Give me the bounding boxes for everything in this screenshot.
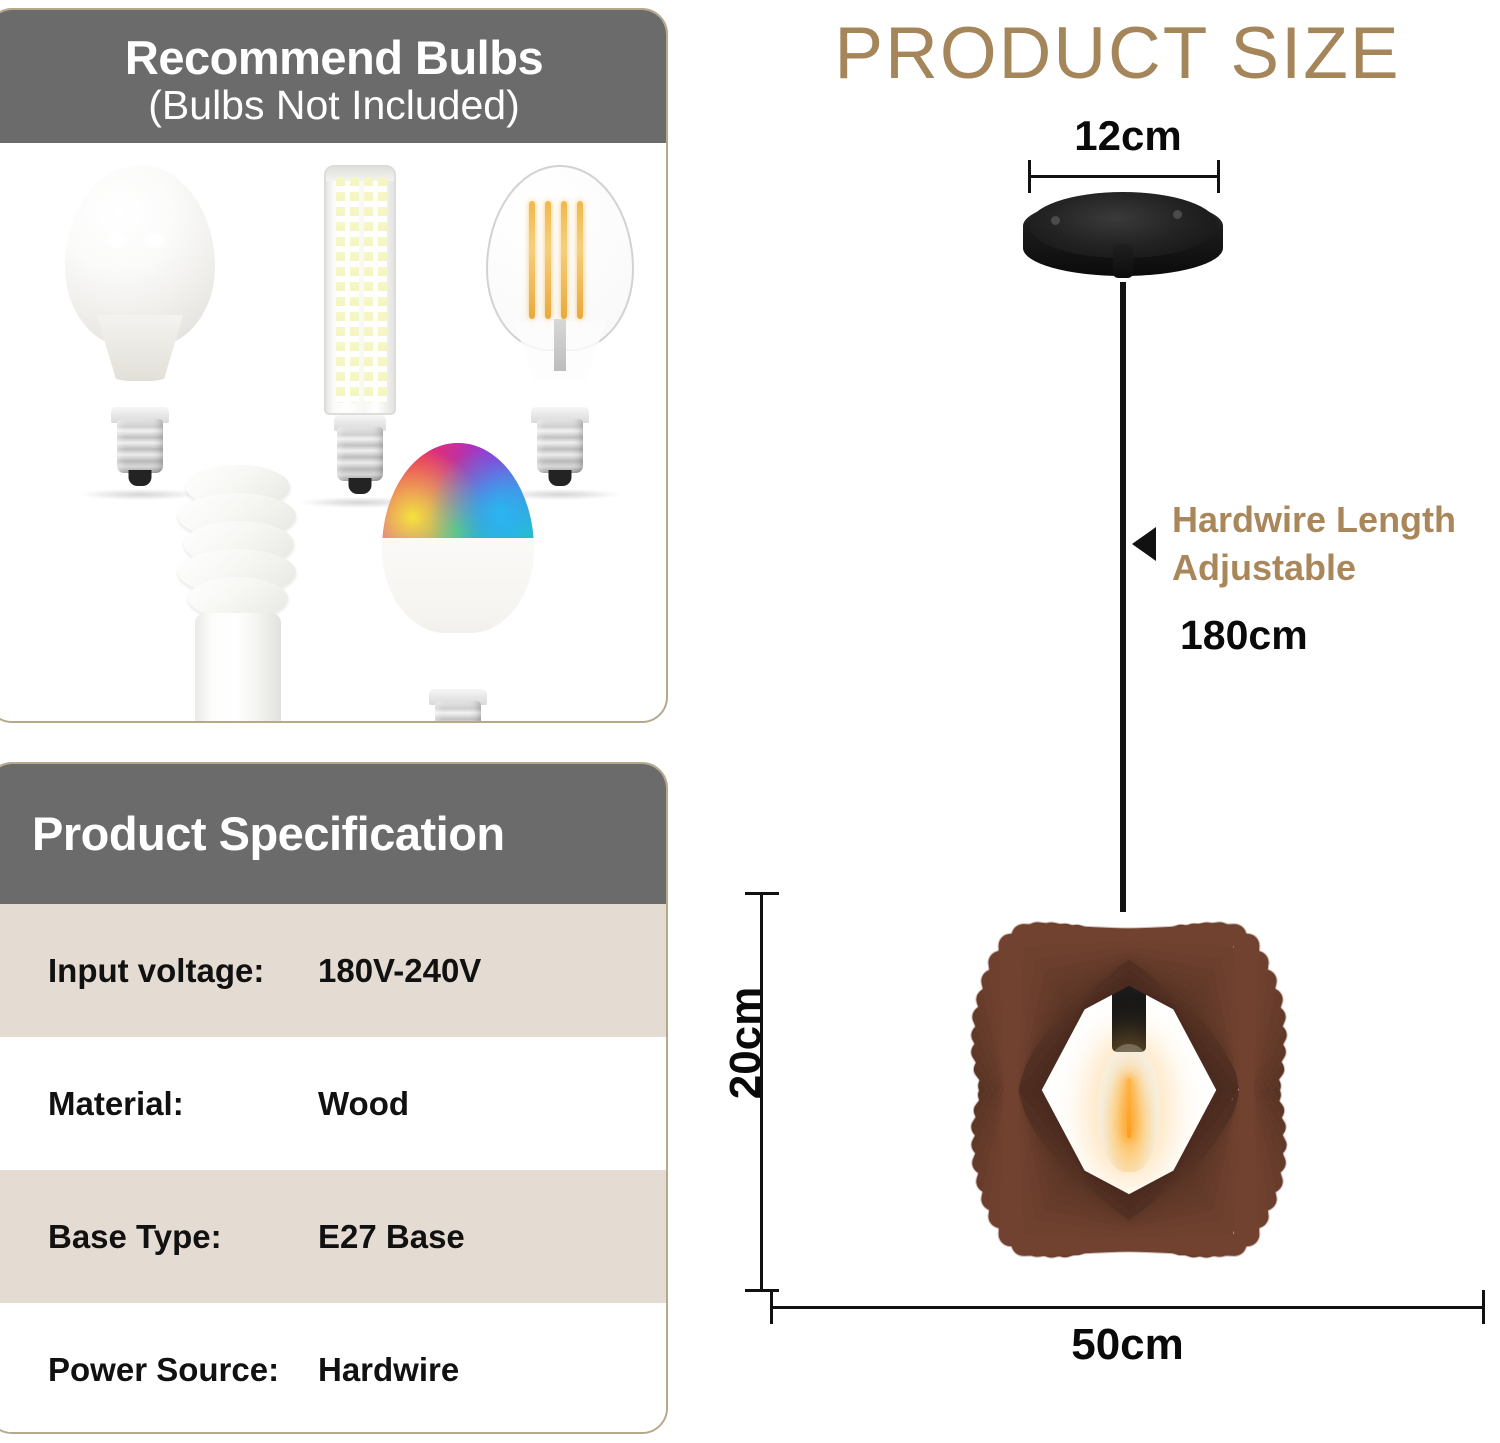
rgb-smart-bulb xyxy=(348,443,568,723)
table-row: Input voltage: 180V-240V xyxy=(0,904,666,1037)
spec-value: 180V-240V xyxy=(318,952,481,990)
product-specification-title: Product Specification xyxy=(32,809,505,858)
dimension-line-shade-diameter xyxy=(770,1306,1485,1309)
spec-value: E27 Base xyxy=(318,1218,465,1256)
hanging-cord xyxy=(1120,282,1126,912)
hardwire-length-label: 180cm xyxy=(1180,612,1308,659)
hardwire-adjustable-label: Hardwire Length Adjustable xyxy=(1172,496,1500,591)
product-specification-card: Product Specification Input voltage: 180… xyxy=(0,762,668,1434)
dimension-tick-right xyxy=(1217,160,1220,193)
table-row: Base Type: E27 Base xyxy=(0,1170,666,1303)
wood-slat xyxy=(998,923,1260,1256)
wooden-pendant-shade xyxy=(770,880,1488,1300)
hardwire-pointer-icon xyxy=(1132,527,1156,561)
rgb-color-dome xyxy=(382,443,534,538)
corn-led-strip xyxy=(336,177,345,403)
spec-key: Base Type: xyxy=(0,1218,318,1256)
corn-led-strip xyxy=(378,177,387,403)
spec-key: Material: xyxy=(0,1085,318,1123)
recommend-bulbs-card: Recommend Bulbs (Bulbs Not Included) xyxy=(0,8,668,723)
recommend-bulbs-subtitle: (Bulbs Not Included) xyxy=(148,83,519,128)
ceiling-canopy xyxy=(1023,192,1223,288)
shade-height-label: 20cm xyxy=(721,933,771,1153)
filament-stem xyxy=(554,319,566,371)
cfl-spiral-icon xyxy=(168,463,308,723)
filament-strand xyxy=(545,201,551,319)
rgb-e27-base-icon xyxy=(435,701,481,723)
shade-diameter-label: 50cm xyxy=(770,1320,1485,1370)
table-row: Material: Wood xyxy=(0,1037,666,1170)
filament-strand xyxy=(529,201,535,319)
led-a19-frosted-bulb xyxy=(30,165,250,500)
a19-glass-icon xyxy=(65,165,215,347)
edison-glass-icon xyxy=(486,165,634,351)
canopy-screw-icon xyxy=(1173,210,1182,219)
dimension-tick-right xyxy=(1482,1290,1485,1324)
canopy-cord-grip xyxy=(1113,244,1133,278)
table-row: Power Source: Hardwire xyxy=(0,1303,666,1434)
page-title: PRODUCT SIZE xyxy=(735,12,1500,95)
spec-key: Input voltage: xyxy=(0,952,318,990)
a19-highlight-dot-right xyxy=(145,233,164,248)
recommend-bulbs-header: Recommend Bulbs (Bulbs Not Included) xyxy=(0,10,666,143)
canopy-screw-icon xyxy=(1051,216,1060,225)
corn-body-icon xyxy=(324,165,396,415)
specification-table: Input voltage: 180V-240V Material: Wood … xyxy=(0,904,666,1434)
dimension-tick-bottom xyxy=(745,1289,779,1292)
rgb-glass-icon xyxy=(382,443,534,633)
bulb-grid xyxy=(0,143,666,721)
corn-led-strip xyxy=(364,177,373,403)
filament-strand xyxy=(577,201,583,319)
spec-value: Hardwire xyxy=(318,1351,459,1389)
cfl-spiral-bulb xyxy=(128,463,348,723)
filament-strand xyxy=(561,201,567,319)
corn-led-strip xyxy=(350,177,359,403)
canopy-width-label: 12cm xyxy=(1028,112,1228,160)
product-specification-header: Product Specification xyxy=(0,764,666,904)
a19-highlight-dot-left xyxy=(109,233,128,248)
filament-bundle-icon xyxy=(525,201,595,333)
spec-key: Power Source: xyxy=(0,1351,318,1389)
dimension-line-canopy-width xyxy=(1028,175,1220,178)
spec-value: Wood xyxy=(318,1085,409,1123)
recommend-bulbs-title: Recommend Bulbs xyxy=(125,33,543,82)
cfl-base-body xyxy=(195,613,281,723)
